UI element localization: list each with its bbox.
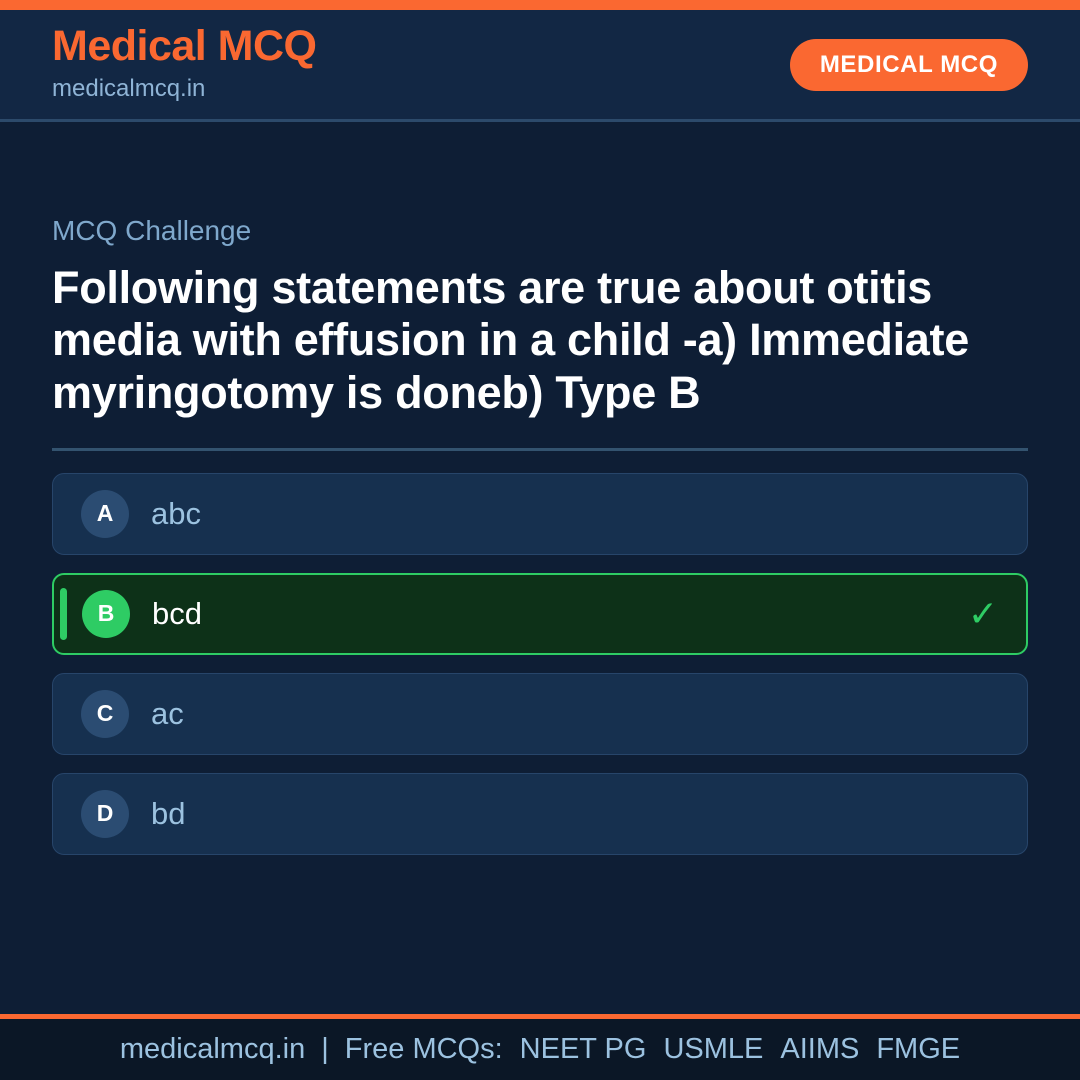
option-letter-badge: A bbox=[81, 490, 129, 538]
option-label: bcd bbox=[152, 595, 202, 632]
footer-exam-usmle: USMLE bbox=[663, 1035, 763, 1064]
option-letter-badge: B bbox=[82, 590, 130, 638]
question-text: Following statements are true about otit… bbox=[52, 262, 1028, 420]
page-footer: medicalmcq.in | Free MCQs: NEET PG USMLE… bbox=[0, 1014, 1080, 1080]
footer-exams: NEET PG USMLE AIIMS FMGE bbox=[520, 1035, 960, 1064]
header-badge: MEDICAL MCQ bbox=[790, 39, 1028, 91]
option-label: ac bbox=[151, 695, 184, 732]
accent-bar bbox=[60, 588, 67, 640]
brand-subtitle: medicalmcq.in bbox=[52, 73, 317, 104]
option-letter-badge: C bbox=[81, 690, 129, 738]
option-a[interactable]: A abc ✓ bbox=[52, 473, 1028, 555]
option-label: bd bbox=[151, 795, 185, 832]
footer-exam-neetpg: NEET PG bbox=[520, 1035, 647, 1064]
footer-label: Free MCQs: bbox=[345, 1035, 503, 1064]
question-divider bbox=[52, 448, 1028, 451]
footer-site: medicalmcq.in bbox=[120, 1035, 305, 1064]
top-accent-bar bbox=[0, 0, 1080, 10]
footer-exam-aiims: AIIMS bbox=[780, 1035, 859, 1064]
footer-exam-fmge: FMGE bbox=[876, 1035, 960, 1064]
option-letter-badge: D bbox=[81, 790, 129, 838]
check-icon: ✓ bbox=[968, 596, 998, 632]
options-list: A abc ✓ B bcd ✓ C ac ✓ D bd ✓ bbox=[52, 473, 1028, 855]
eyebrow-label: MCQ Challenge bbox=[52, 214, 1028, 248]
option-b[interactable]: B bcd ✓ bbox=[52, 573, 1028, 655]
option-c[interactable]: C ac ✓ bbox=[52, 673, 1028, 755]
footer-separator: | bbox=[305, 1035, 345, 1064]
mcq-card: Medical MCQ medicalmcq.in MEDICAL MCQ MC… bbox=[0, 0, 1080, 1080]
page-header: Medical MCQ medicalmcq.in MEDICAL MCQ bbox=[0, 10, 1080, 122]
brand-title: Medical MCQ bbox=[52, 24, 317, 69]
brand-block: Medical MCQ medicalmcq.in bbox=[52, 24, 317, 104]
option-d[interactable]: D bd ✓ bbox=[52, 773, 1028, 855]
option-label: abc bbox=[151, 495, 201, 532]
main-content: MCQ Challenge Following statements are t… bbox=[0, 122, 1080, 1014]
